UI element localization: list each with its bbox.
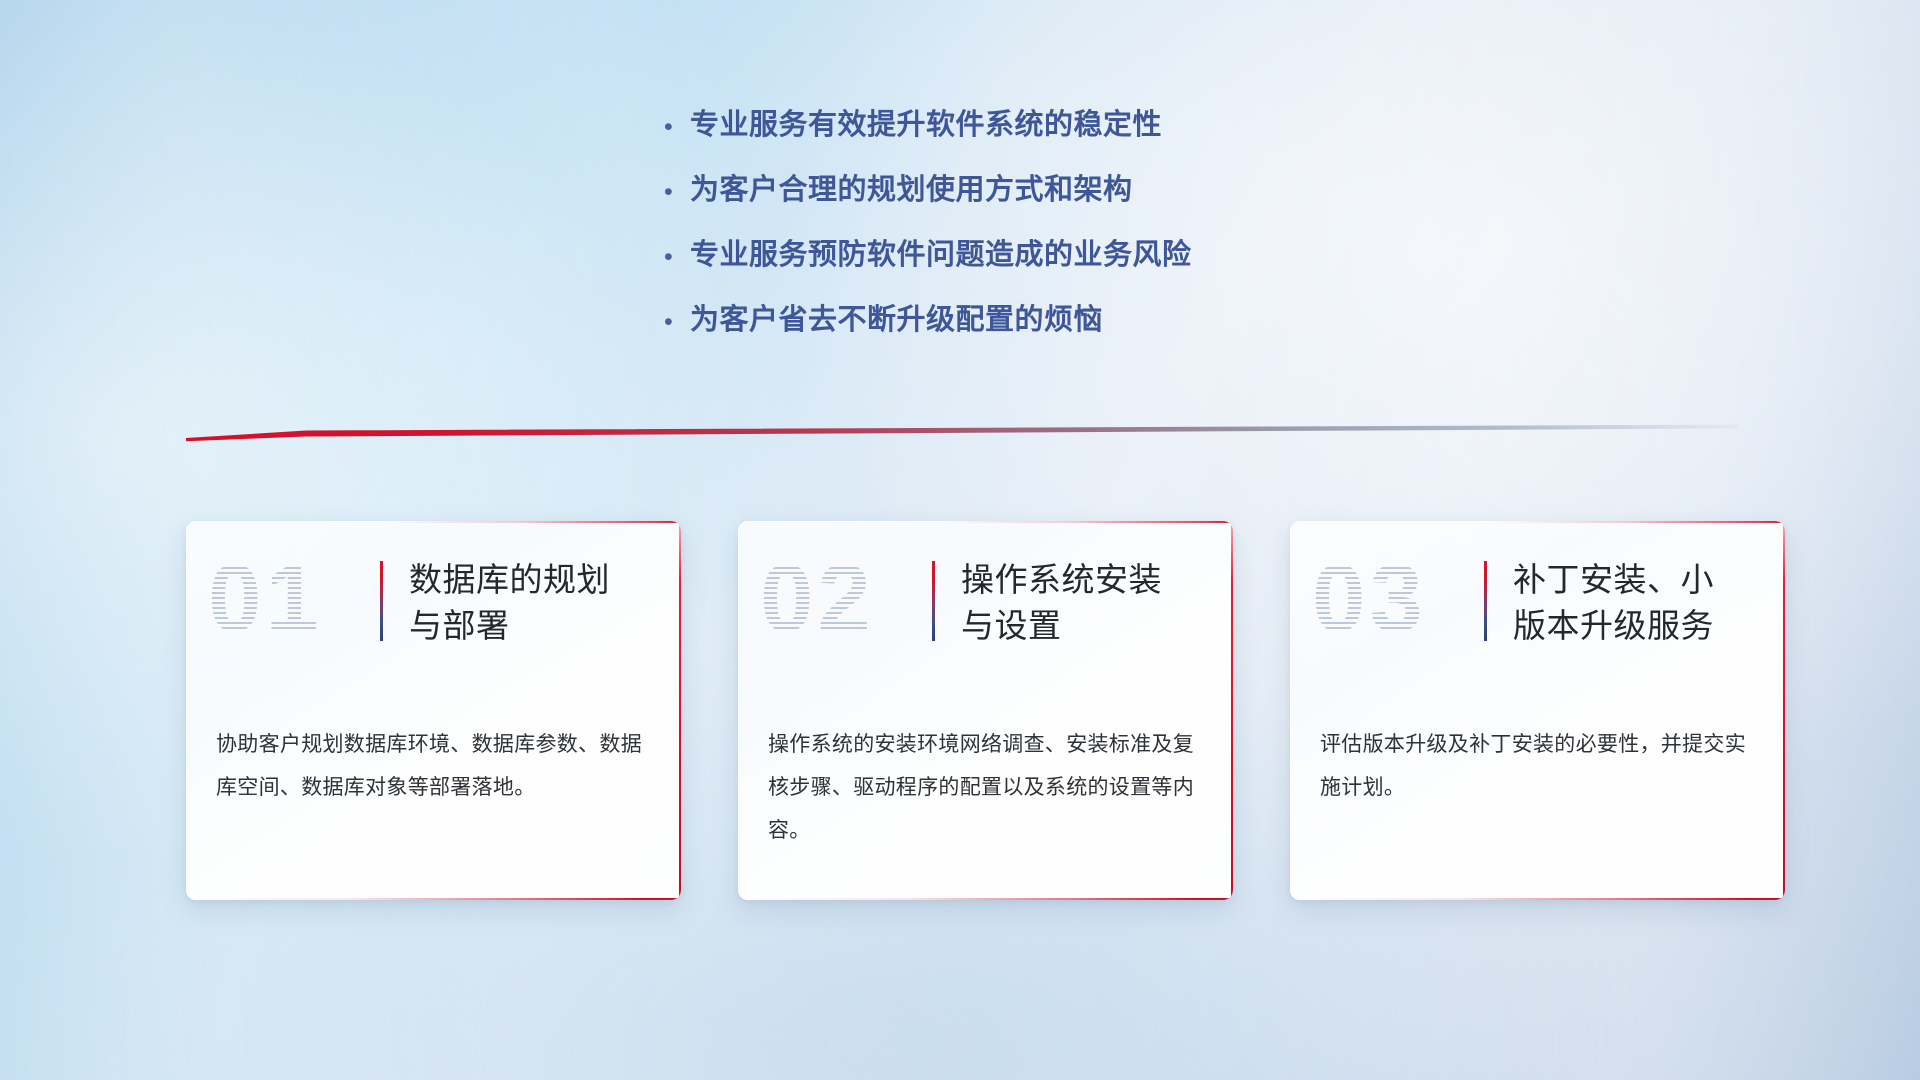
card-header: 03 补丁安装、小版本升级服务 [1290, 521, 1785, 699]
title-accent-bar [1484, 561, 1487, 641]
bullet-marker-icon: • [664, 108, 690, 144]
card-body-text: 操作系统的安装环境网络调查、安装标准及复核步骤、驱动程序的配置以及系统的设置等内… [738, 699, 1233, 900]
card-body-text: 协助客户规划数据库环境、数据库参数、数据库空间、数据库对象等部署落地。 [186, 699, 681, 857]
bullet-text: 专业服务有效提升软件系统的稳定性 [690, 108, 1162, 142]
card-title-group: 补丁安装、小版本升级服务 [1484, 557, 1735, 649]
card-accent-right [1231, 521, 1234, 900]
card-title: 补丁安装、小版本升级服务 [1513, 557, 1735, 649]
section-divider [186, 424, 1738, 448]
service-card-03[interactable]: 03 补丁安装、小版本升级服务 评估版本升级及补丁安装的必要性，并提交实施计划。 [1290, 521, 1785, 900]
card-number-watermark: 02 [760, 547, 925, 651]
benefits-bullet-list: • 专业服务有效提升软件系统的稳定性 • 为客户合理的规划使用方式和架构 • 专… [664, 108, 1484, 368]
card-accent-top [186, 521, 681, 523]
card-number-watermark: 03 [1312, 547, 1477, 651]
card-title: 操作系统安装与设置 [961, 557, 1183, 649]
bullet-marker-icon: • [664, 303, 690, 339]
card-header: 01 数据库的规划与部署 [186, 521, 681, 699]
list-item: • 专业服务有效提升软件系统的稳定性 [664, 108, 1484, 144]
list-item: • 为客户省去不断升级配置的烦恼 [664, 303, 1484, 339]
title-accent-bar [932, 561, 935, 641]
title-accent-bar [380, 561, 383, 641]
card-accent-top [1290, 521, 1785, 523]
card-title: 数据库的规划与部署 [409, 557, 631, 649]
service-card-02[interactable]: 02 操作系统安装与设置 操作系统的安装环境网络调查、安装标准及复核步骤、驱动程… [738, 521, 1233, 900]
card-accent-bottom [1290, 898, 1785, 901]
card-body-text: 评估版本升级及补丁安装的必要性，并提交实施计划。 [1290, 699, 1785, 857]
bullet-marker-icon: • [664, 238, 690, 274]
card-accent-top [738, 521, 1233, 523]
bullet-text: 为客户省去不断升级配置的烦恼 [690, 303, 1103, 337]
list-item: • 专业服务预防软件问题造成的业务风险 [664, 238, 1484, 274]
card-accent-bottom [186, 898, 681, 901]
card-title-group: 数据库的规划与部署 [380, 557, 631, 649]
bullet-marker-icon: • [664, 173, 690, 209]
list-item: • 为客户合理的规划使用方式和架构 [664, 173, 1484, 209]
card-header: 02 操作系统安装与设置 [738, 521, 1233, 699]
service-card-grid: 01 数据库的规划与部署 协助客户规划数据库环境、数据库参数、数据库空间、数据库… [186, 521, 1786, 900]
slide-canvas: • 专业服务有效提升软件系统的稳定性 • 为客户合理的规划使用方式和架构 • 专… [0, 0, 1920, 1080]
card-number-watermark: 01 [208, 547, 373, 651]
card-accent-right [679, 521, 682, 900]
card-title-group: 操作系统安装与设置 [932, 557, 1183, 649]
bullet-text: 专业服务预防软件问题造成的业务风险 [690, 238, 1192, 272]
card-accent-right [1783, 521, 1786, 900]
service-card-01[interactable]: 01 数据库的规划与部署 协助客户规划数据库环境、数据库参数、数据库空间、数据库… [186, 521, 681, 900]
bullet-text: 为客户合理的规划使用方式和架构 [690, 173, 1133, 207]
card-accent-bottom [738, 898, 1233, 901]
